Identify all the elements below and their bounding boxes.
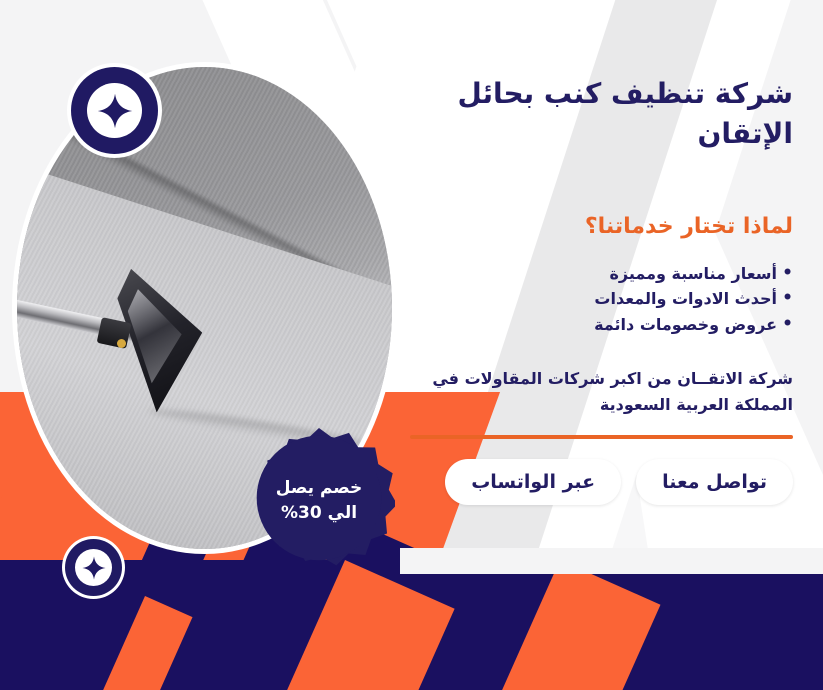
cta-button-row: تواصل معنا عبر الواتساب [393,439,793,505]
page-title: شركة تنظيف كنب بحائل الإتقان [393,0,793,154]
four-point-sparkle-icon [97,93,133,129]
content-column: شركة تنظيف كنب بحائل الإتقان لماذا تختار… [393,0,793,505]
list-item: أحدث الادوات والمعدات [393,286,793,312]
discount-badge: خصم يصل الي 30% [243,425,395,577]
list-item: أسعار مناسبة ومميزة [393,261,793,287]
logo-ring [71,67,158,154]
background-notch [400,548,823,574]
whatsapp-button[interactable]: عبر الواتساب [445,459,621,505]
section-subtitle: لماذا تختار خدماتنا؟ [393,154,793,239]
list-item: عروض وخصومات دائمة [393,312,793,338]
benefits-list: أسعار مناسبة ومميزة أحدث الادوات والمعدا… [393,239,793,339]
brand-logo [67,63,162,158]
company-description: شركة الاتقــان من اكبر شركات المقاولات ف… [393,338,793,418]
logo-core [75,549,112,586]
cleaning-wand-fitting [117,339,126,348]
starburst-shape-icon [243,425,395,577]
logo-ring [65,539,122,596]
four-point-sparkle-icon [82,556,106,580]
brand-logo-secondary [62,536,125,599]
promo-poster: خصم يصل الي 30% شركة تنظيف كنب بحائل الإ… [0,0,823,690]
logo-core [87,83,142,138]
contact-us-button[interactable]: تواصل معنا [636,459,793,505]
